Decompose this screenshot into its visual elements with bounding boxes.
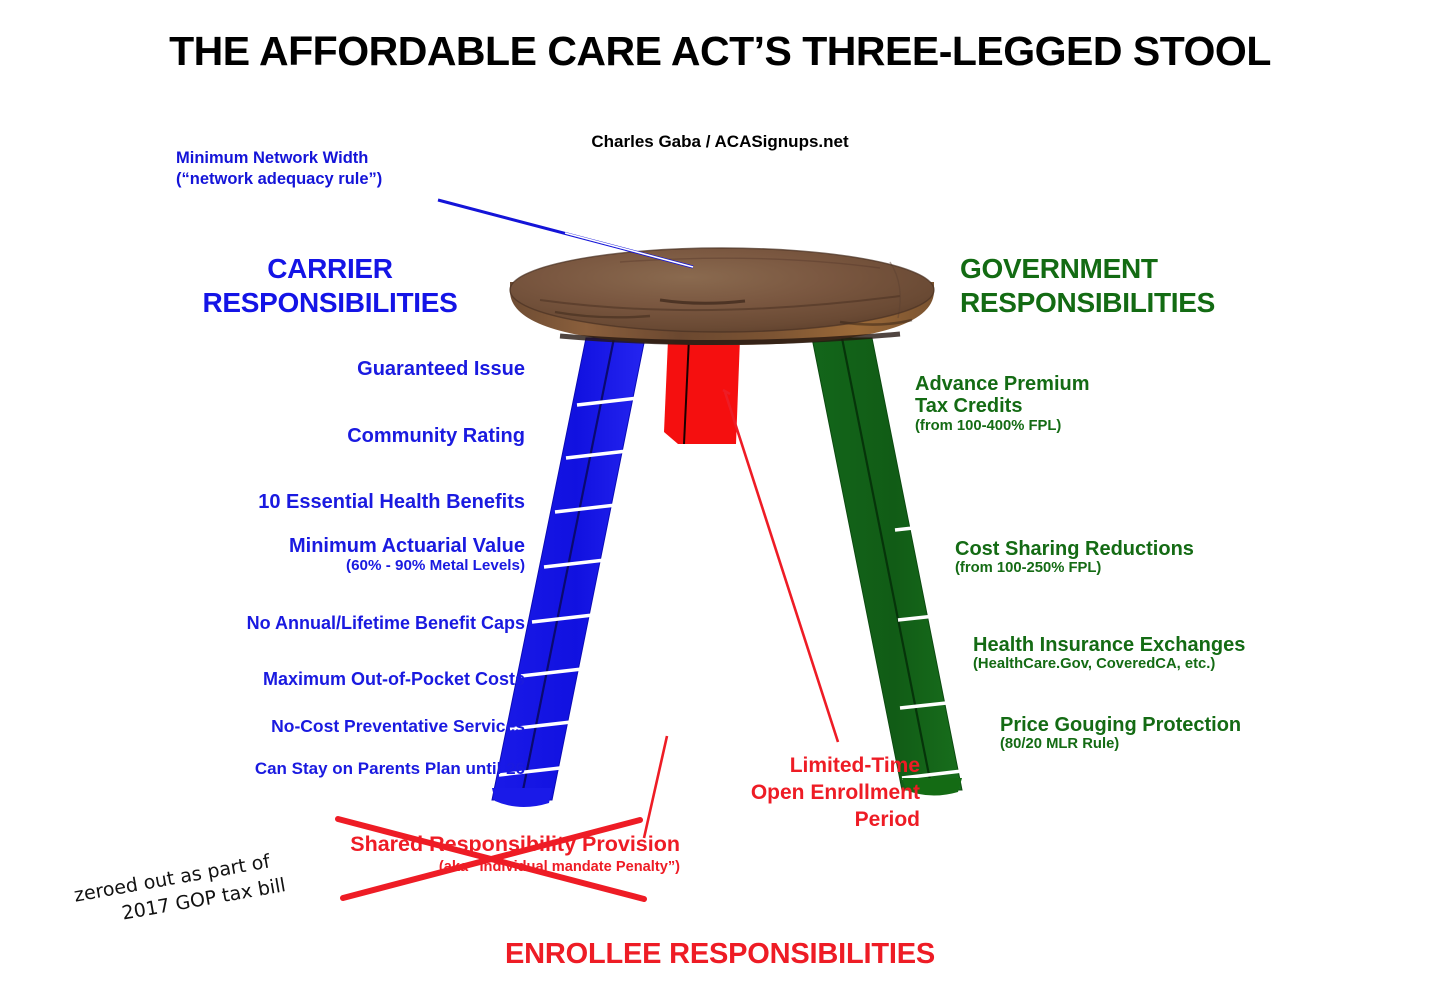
government-heading-line-1: GOVERNMENT [960,252,1300,286]
government-item: Price Gouging Protection(80/20 MLR Rule) [1000,714,1430,753]
annotation-line-1: Minimum Network Width [176,148,476,169]
government-item: Cost Sharing Reductions(from 100-250% FP… [955,538,1430,577]
government-item-sublabel: (from 100-400% FPL) [915,418,1430,435]
stool-leg-enrollee [664,338,740,444]
carrier-item: Guaranteed Issue [60,358,525,380]
carrier-item: Community Rating [60,425,525,447]
annotation-line-2: (“network adequacy rule”) [176,169,476,190]
carrier-item-label: Minimum Actuarial Value [289,535,525,557]
carrier-responsibilities-heading: CARRIER RESPONSIBILITIES [180,252,480,320]
carrier-item-sublabel: (60% - 90% Metal Levels) [60,557,525,574]
government-item: Health Insurance Exchanges(HealthCare.Go… [973,634,1430,673]
government-item: Advance PremiumTax Credits(from 100-400%… [915,373,1430,434]
carrier-item: Minimum Actuarial Value(60% - 90% Metal … [60,535,525,574]
carrier-item: No Annual/Lifetime Benefit Caps [60,613,525,633]
shared-responsibility-pointer-line [644,736,667,838]
stool-seat [510,248,934,345]
carrier-item: No-Cost Preventative Services [60,717,525,737]
government-heading-line-2: RESPONSIBILITIES [960,286,1300,320]
government-item-sublabel: (from 100-250% FPL) [955,560,1430,577]
carrier-heading-line-1: CARRIER [180,252,480,286]
government-responsibilities-heading: GOVERNMENT RESPONSIBILITIES [960,252,1300,320]
government-item-label-2: Tax Credits [915,395,1430,417]
handwritten-note: zeroed out as part of 2017 GOP tax bill [72,833,367,935]
carrier-item-label: Can Stay on Parents Plan until 26 [255,759,525,778]
limited-time-line-3: Period [700,806,920,833]
government-item-label: Price Gouging Protection [1000,714,1241,736]
carrier-item-label: 10 Essential Health Benefits [258,491,525,513]
limited-time-line-1: Limited-Time [700,752,920,779]
limited-time-line-2: Open Enrollment [700,779,920,806]
open-enrollment-pointer-line [723,390,838,742]
limited-time-open-enrollment-label: Limited-Time Open Enrollment Period [700,752,920,833]
shared-responsibility-main: Shared Responsibility Provision [350,832,680,856]
carrier-item-label: Community Rating [347,425,525,447]
carrier-item: Can Stay on Parents Plan until 26 [60,759,525,778]
government-item-label: Cost Sharing Reductions [955,538,1194,560]
annotation-minimum-network-width: Minimum Network Width (“network adequacy… [176,148,476,190]
government-item-sublabel: (HealthCare.Gov, CoveredCA, etc.) [973,656,1430,673]
infographic-canvas: THE AFFORDABLE CARE ACT’S THREE-LEGGED S… [0,0,1440,1000]
government-item-label: Advance Premium [915,373,1090,395]
carrier-item: 10 Essential Health Benefits [60,491,525,513]
carrier-heading-line-2: RESPONSIBILITIES [180,286,480,320]
carrier-item-label: Guaranteed Issue [357,358,525,380]
carrier-item: Maximum Out-of-Pocket Costs [60,669,525,689]
carrier-item-label: Maximum Out-of-Pocket Costs [263,669,525,689]
page-title: THE AFFORDABLE CARE ACT’S THREE-LEGGED S… [0,28,1440,75]
government-item-sublabel: (80/20 MLR Rule) [1000,736,1430,753]
government-item-label: Health Insurance Exchanges [973,634,1245,656]
carrier-item-label: No Annual/Lifetime Benefit Caps [247,613,525,633]
carrier-item-label: No-Cost Preventative Services [271,716,525,736]
enrollee-responsibilities-heading: ENROLLEE RESPONSIBILITIES [0,938,1440,971]
